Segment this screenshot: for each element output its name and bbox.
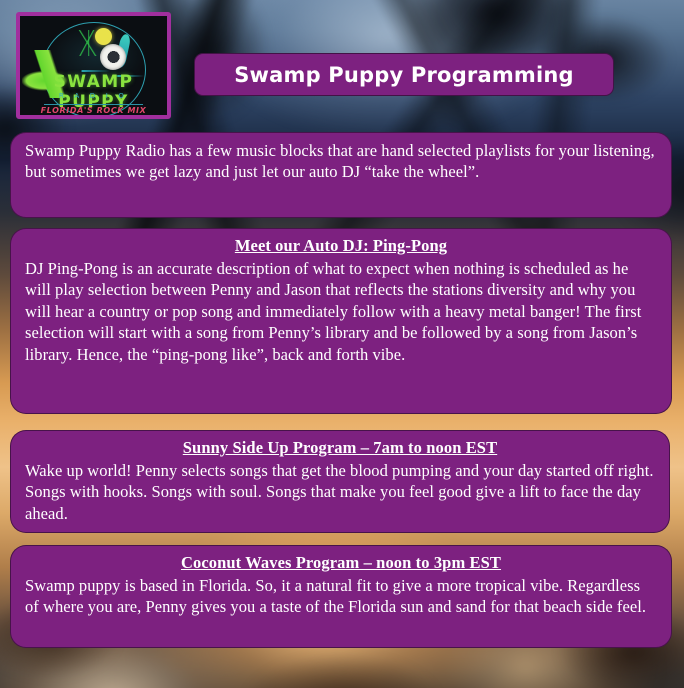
page-title: Swamp Puppy Programming [234, 63, 574, 87]
card-auto-dj-body: DJ Ping-Pong is an accurate description … [25, 258, 657, 365]
logo-artwork: SWAMP PUPPY R A D I O FLORIDA'S ROCK MIX [20, 16, 167, 115]
card-intro: Swamp Puppy Radio has a few music blocks… [10, 132, 672, 218]
palm-tree-icon [76, 30, 102, 56]
card-intro-body: Swamp Puppy Radio has a few music blocks… [25, 140, 657, 183]
logo-divider [44, 104, 143, 105]
page-title-banner: Swamp Puppy Programming [194, 53, 614, 96]
card-auto-dj: Meet our Auto DJ: Ping-Pong DJ Ping-Pong… [10, 228, 672, 414]
card-sunny-side-up: Sunny Side Up Program – 7am to noon EST … [10, 430, 670, 533]
station-logo[interactable]: SWAMP PUPPY R A D I O FLORIDA'S ROCK MIX [16, 12, 171, 119]
card-coconut-waves-body: Swamp puppy is based in Florida. So, it … [25, 575, 657, 618]
logo-tagline: FLORIDA'S ROCK MIX [20, 106, 167, 115]
page-root: SWAMP PUPPY R A D I O FLORIDA'S ROCK MIX… [0, 0, 684, 688]
card-sunny-side-up-body: Wake up world! Penny selects songs that … [25, 460, 655, 524]
card-coconut-waves: Coconut Waves Program – noon to 3pm EST … [10, 545, 672, 648]
card-auto-dj-heading: Meet our Auto DJ: Ping-Pong [25, 236, 657, 257]
logo-subtitle: R A D I O [20, 92, 167, 100]
card-coconut-waves-heading: Coconut Waves Program – noon to 3pm EST [25, 553, 657, 574]
card-sunny-side-up-heading: Sunny Side Up Program – 7am to noon EST [25, 438, 655, 459]
header: SWAMP PUPPY R A D I O FLORIDA'S ROCK MIX… [0, 0, 684, 124]
